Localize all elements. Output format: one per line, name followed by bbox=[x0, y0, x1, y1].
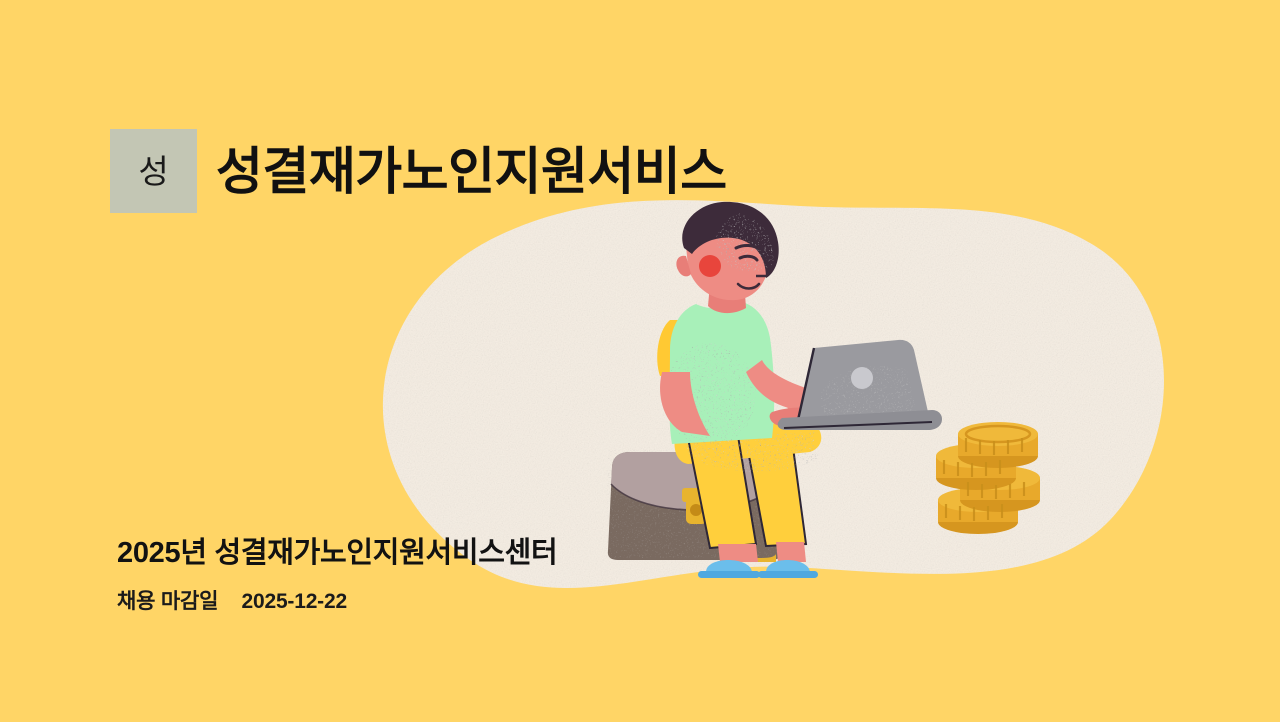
person-far-shoe bbox=[758, 560, 818, 578]
coin-stack-illustration bbox=[936, 422, 1040, 534]
company-header: 성 성결재가노인지원서비스 bbox=[110, 128, 727, 214]
application-deadline: 채용 마감일 2025-12-22 bbox=[117, 585, 347, 615]
job-posting-title: 2025년 성결재가노인지원서비스센터 bbox=[117, 529, 557, 571]
person-head bbox=[676, 202, 784, 313]
job-posting-banner: 성 성결재가노인지원서비스 2025년 성결재가노인지원서비스센터 채용 마감일… bbox=[0, 0, 1280, 722]
company-logo-badge: 성 bbox=[110, 129, 197, 213]
company-name-title: 성결재가노인지원서비스 bbox=[216, 146, 727, 197]
deadline-label: 채용 마감일 bbox=[117, 590, 218, 613]
company-logo-letter: 성 bbox=[138, 155, 168, 188]
deadline-value: 2025-12-22 bbox=[242, 590, 347, 613]
person-near-shoe bbox=[698, 560, 760, 578]
illustration-man-working-on-laptop bbox=[560, 200, 1120, 600]
